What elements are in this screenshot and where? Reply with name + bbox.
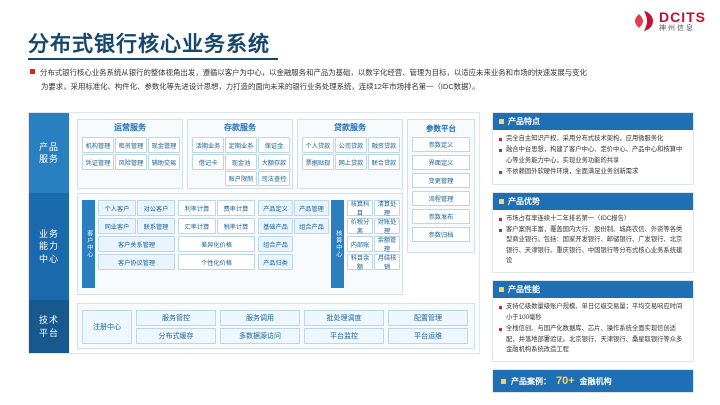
- architecture-diagram: 产品服务 业务能力中心 技术平台 运营服务 机构管理 柜员管理 现金管理 凭证管…: [28, 112, 480, 354]
- acc-cell-subject-balance[interactable]: 科目余额: [347, 254, 373, 270]
- cap-cell-custom-price[interactable]: 个性化价格: [178, 254, 255, 270]
- feature-item-1: 完全自主知识产权，采用分布式技术架构，应用微服务化: [499, 134, 687, 144]
- logo-text: DCITS 神州信息: [659, 10, 706, 32]
- cell-teller-mgmt[interactable]: 柜员管理: [115, 137, 147, 153]
- panel-header-features: 产品特点: [493, 113, 693, 130]
- cell-org-mgmt[interactable]: 机构管理: [82, 137, 114, 153]
- panel-body-performance: 支持亿级数量级账户规模、单日亿级交易量；平均交易响应时间小于100毫秒 全栈信创…: [493, 298, 693, 361]
- tech-cell-registry[interactable]: 注册中心: [82, 310, 132, 344]
- page-title: 分布式银行核心业务系统: [28, 28, 270, 58]
- acc-cell-subject[interactable]: 核算科目: [347, 200, 373, 216]
- param-cell-process-mgmt[interactable]: 流程管理: [412, 191, 470, 206]
- cell-margin[interactable]: 保证金: [258, 137, 290, 153]
- param-platform-title: 参数平台: [408, 120, 474, 134]
- param-cell-change-mgmt[interactable]: 变更管理: [412, 173, 470, 188]
- tech-cell-batch-schedule[interactable]: 批处理调度: [304, 310, 384, 326]
- acc-cell-month-end[interactable]: 月结核销: [374, 254, 400, 270]
- case-label-suffix: 金融机构: [580, 376, 612, 387]
- title-underline: [28, 58, 278, 60]
- cap-cell-interbank-customer[interactable]: 同业客户: [98, 218, 136, 234]
- cell-risk-mgmt[interactable]: 风险管理: [115, 154, 147, 170]
- cap-cell-tax-calc[interactable]: 税率计算: [217, 218, 255, 234]
- band-capability-center: 业务能力中心: [29, 193, 69, 300]
- tech-cell-service-control[interactable]: 服务管控: [136, 310, 216, 326]
- advantage-item-2: 客户案例丰富，覆盖国内大行、股份制、城商农信、外资等各类型商业银行。包括：国家开…: [499, 225, 687, 267]
- acc-cell-price-tax[interactable]: 价税分离: [347, 218, 373, 234]
- band-tech-platform: 技术平台: [29, 300, 69, 353]
- cell-joint-loan[interactable]: 联合贷款: [368, 154, 400, 170]
- panel-product-features: 产品特点 完全自主知识产权，采用分布式技术架构，应用微服务化 融合中台思想，构建…: [492, 112, 694, 185]
- cap-cell-corp-customer[interactable]: 对公客户: [137, 200, 175, 216]
- label-accounting-center-text: 核算中心: [334, 230, 341, 258]
- cell-personal-loan[interactable]: 个人贷款: [302, 137, 334, 153]
- param-cell-define[interactable]: 参数定义: [412, 137, 470, 152]
- right-info-column: 产品特点 完全自主知识产权，采用分布式技术架构，应用微服务化 融合中台思想，构建…: [492, 112, 694, 393]
- cap-cell-rate-calc[interactable]: 利率计算: [178, 200, 216, 216]
- panel-title-advantages: 产品优势: [508, 196, 540, 207]
- cell-fixed-biz[interactable]: 定期业务: [225, 137, 257, 153]
- section-tech-platform: 注册中心 服务管控 服务调用 批处理调度 配置管理 分布式缓存 多数据源访问 平…: [77, 303, 475, 349]
- feature-item-2: 融合中台思想，构建了客户中心、定价中心、产品中心和核算中心等业务能力中心，实现业…: [499, 145, 687, 166]
- panel-body-features: 完全自主知识产权，采用分布式技术架构，应用微服务化 融合中台思想，构建了客户中心…: [493, 130, 693, 184]
- cell-cash-mgmt[interactable]: 现金管理: [148, 137, 180, 153]
- logo-en: DCITS: [659, 10, 706, 24]
- band-product-service: 产品服务: [29, 113, 69, 193]
- label-accounting-center: 核算中心: [331, 200, 344, 288]
- slide-page: DCITS 神州信息 分布式银行核心业务系统 分布式银行核心业务系统从银行的整体…: [0, 0, 720, 405]
- panel-title-features: 产品特点: [508, 116, 540, 127]
- cap-cell-fee-calc[interactable]: 费率计算: [217, 200, 255, 216]
- cell-debit-card[interactable]: 借记卡: [192, 154, 224, 170]
- param-cell-ui-define[interactable]: 界面定义: [412, 155, 470, 170]
- section-capability-center: 客户中心 个人客户 对公客户 同业客户 联系管理 客户关系管理 客户协议管理 利…: [77, 193, 403, 295]
- cell-account-limit[interactable]: 账户限制: [225, 171, 257, 186]
- panel-body-advantages: 市场占有率连续十二年排名第一（IDC报告） 客户案例丰富，覆盖国内大行、股份制、…: [493, 210, 693, 273]
- tech-cell-platform-ops[interactable]: 平台运维: [388, 328, 468, 344]
- cell-bill-discount[interactable]: 票据贴现: [302, 154, 334, 170]
- section-title-operation: 运营服务: [78, 119, 182, 133]
- param-cell-publish[interactable]: 参数发布: [412, 209, 470, 224]
- cell-voucher-mgmt[interactable]: 凭证管理: [82, 154, 114, 170]
- cell-online-loan[interactable]: 网上贷款: [335, 154, 367, 170]
- cap-cell-personal-customer[interactable]: 个人客户: [98, 200, 136, 216]
- panel-title-performance: 产品性能: [508, 284, 540, 295]
- cap-cell-customer-relation[interactable]: 客户关系管理: [98, 236, 175, 252]
- param-cell-archive[interactable]: 参数归档: [412, 227, 470, 242]
- section-deposit-service: 存款服务 活期业务 定期业务 保证金 借记卡 现金池 大额存款 账户限制 司法查…: [187, 119, 293, 189]
- performance-item-1: 支持亿级数量级账户规模、单日亿级交易量；平均交易响应时间小于100毫秒: [499, 302, 687, 323]
- case-label-prefix: 产品案例：: [511, 376, 551, 387]
- case-number: 70+: [556, 375, 575, 387]
- cell-aux-txn[interactable]: 辅助交易: [148, 154, 180, 170]
- section-loan-service: 贷款服务 个人贷款 公司贷款 融资贷款 票据贴现 网上贷款 联合贷款: [297, 119, 403, 189]
- performance-item-2: 全栈信创、与国产化数据库、芯片、操作系统全面实现信创适配，并落地部署验证。北京银…: [499, 324, 687, 355]
- panel-header-advantages: 产品优势: [493, 193, 693, 210]
- square-bullet-icon: [501, 379, 506, 384]
- cap-cell-diff-price[interactable]: 差异化价格: [178, 236, 255, 252]
- section-operation-service: 运营服务 机构管理 柜员管理 现金管理 凭证管理 风险管理 辅助交易: [77, 119, 183, 189]
- tech-cell-config-mgmt[interactable]: 配置管理: [388, 310, 468, 326]
- bullet-square-icon: [30, 69, 35, 74]
- cell-financing-loan[interactable]: 融资贷款: [368, 137, 400, 153]
- section-title-deposit: 存款服务: [188, 119, 292, 133]
- brand-logo: DCITS 神州信息: [633, 10, 706, 32]
- intro-line-1-text: 分布式银行核心业务系统从银行的整体视角出发，遵循以客户为中心，以金融服务和产品为…: [40, 68, 587, 77]
- cap-cell-product-define[interactable]: 产品定义: [258, 200, 293, 216]
- panel-product-performance: 产品性能 支持亿级数量级账户规模、单日亿级交易量；平均交易响应时间小于100毫秒…: [492, 280, 694, 362]
- param-platform-box: 参数平台 参数定义 界面定义 变更管理 流程管理 参数发布 参数归档: [407, 119, 475, 253]
- cell-cash-pool[interactable]: 现金池: [225, 154, 257, 170]
- advantage-item-1: 市场占有率连续十二年排名第一（IDC报告）: [499, 214, 687, 224]
- tech-cell-service-call[interactable]: 服务调用: [220, 310, 300, 326]
- cell-current-biz[interactable]: 活期业务: [192, 137, 224, 153]
- logo-mark-icon: [633, 10, 655, 32]
- acc-cell-reconcile[interactable]: 对账处理: [374, 218, 400, 234]
- intro-line-1: 分布式银行核心业务系统从银行的整体视角出发，遵循以客户为中心，以金融服务和产品为…: [30, 66, 690, 80]
- tech-cell-distributed-cache[interactable]: 分布式缓存: [136, 328, 216, 344]
- acc-cell-balance-mgmt[interactable]: 余额管理: [374, 236, 400, 252]
- feature-item-3: 不依赖国外软硬件环境，全面满足业务创新需求: [499, 167, 687, 177]
- panel-product-cases: 产品案例： 70+ 金融机构: [492, 369, 694, 393]
- cap-cell-combo-product-2[interactable]: 组合产品: [258, 236, 293, 252]
- cap-cell-contact-mgmt[interactable]: 联系管理: [137, 218, 175, 234]
- cap-cell-combo-product[interactable]: 组合产品: [294, 218, 329, 234]
- cell-judicial[interactable]: 司法查控: [258, 171, 290, 186]
- label-customer-center: 客户中心: [82, 200, 95, 288]
- intro-line-2: 为要求，采用标准化、构件化、参数化等先进设计思想，఩力打造的面向未来的银行业务处…: [41, 80, 690, 94]
- logo-cn: 神州信息: [659, 25, 706, 32]
- cap-cell-customer-agreement[interactable]: 客户协议管理: [98, 254, 175, 270]
- acc-cell-settlement[interactable]: 清算处理: [374, 200, 400, 216]
- acc-cell-internal-acct[interactable]: 内部账: [347, 236, 373, 252]
- square-bullet-icon: [499, 199, 504, 204]
- label-customer-center-text: 客户中心: [85, 230, 92, 258]
- section-title-loan: 贷款服务: [298, 119, 402, 133]
- tech-cell-multi-datasource[interactable]: 多数据源访问: [220, 328, 300, 344]
- cap-cell-product-mgmt[interactable]: 产品管理: [294, 200, 329, 216]
- cell-corp-loan[interactable]: 公司贷款: [335, 137, 367, 153]
- panel-product-advantages: 产品优势 市场占有率连续十二年排名第一（IDC报告） 客户案例丰富，覆盖国内大行…: [492, 192, 694, 274]
- tech-cell-platform-monitor[interactable]: 平台监控: [304, 328, 384, 344]
- panel-header-performance: 产品性能: [493, 281, 693, 298]
- cap-cell-product-category[interactable]: 产品归类: [258, 254, 293, 270]
- square-bullet-icon: [499, 119, 504, 124]
- square-bullet-icon: [499, 287, 504, 292]
- cell-large-deposit[interactable]: 大额存款: [258, 154, 290, 170]
- cap-cell-fx-calc[interactable]: 汇率计算: [178, 218, 216, 234]
- intro-text: 分布式银行核心业务系统从银行的整体视角出发，遵循以客户为中心，以金融服务和产品为…: [30, 66, 690, 94]
- cap-cell-base-product[interactable]: 基础产品: [258, 218, 293, 234]
